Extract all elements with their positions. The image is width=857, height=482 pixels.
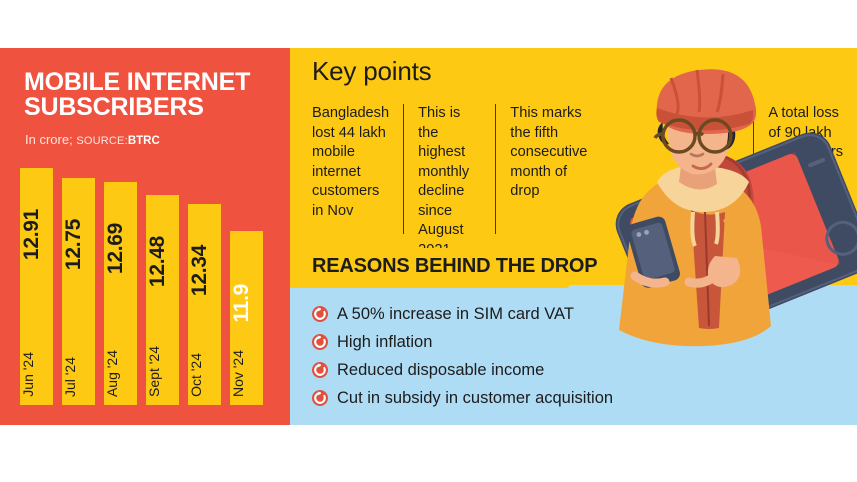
- reason-item: A 50% increase in SIM card VAT: [312, 300, 642, 328]
- chart-panel: MOBILE INTERNET SUBSCRIBERS In crore; SO…: [0, 48, 290, 425]
- bar: Sept '24: [146, 195, 179, 405]
- reason-text: A 50% increase in SIM card VAT: [337, 305, 574, 324]
- content-panel: Key points Bangladesh lost 44 lakh mobil…: [290, 48, 857, 425]
- bar: Jun '24: [20, 168, 53, 405]
- reason-item: Reduced disposable income: [312, 356, 642, 384]
- reason-text: Cut in subsidy in customer acquisition: [337, 389, 613, 408]
- reason-item: Cut in subsidy in customer acquisition: [312, 384, 642, 412]
- reason-item: High inflation: [312, 328, 642, 356]
- bar-chart: Jun '2412.91Jul '2412.75Aug '2412.69Sept…: [0, 48, 290, 425]
- bar: Aug '24: [104, 182, 137, 405]
- bar-category-label: Jun '24: [20, 352, 53, 397]
- key-point-item: Bangladesh lost 44 lakh mobile internet …: [312, 104, 403, 234]
- bar: Oct '24: [188, 204, 221, 405]
- key-point-item: A total loss of 90 lakh subscribers in J…: [753, 104, 857, 234]
- key-point-item: This marks the fifth consecutive month o…: [495, 104, 601, 234]
- bar-value-label: 12.75: [62, 219, 95, 270]
- key-points-row: Bangladesh lost 44 lakh mobile internet …: [312, 104, 857, 234]
- bar-group: Jul '2412.75: [62, 118, 95, 405]
- key-points-heading: Key points: [312, 56, 431, 87]
- bar-group: Oct '2412.34: [188, 144, 221, 405]
- key-point-item: This is the highest monthly decline sinc…: [403, 104, 495, 234]
- reason-text: High inflation: [337, 333, 432, 352]
- reasons-list: A 50% increase in SIM card VATHigh infla…: [312, 300, 642, 412]
- circular-arrow-icon: [312, 390, 328, 406]
- bar-group: Sept '2412.48: [146, 135, 179, 405]
- bar-category-label: Jul '24: [62, 357, 95, 397]
- circular-arrow-icon: [312, 306, 328, 322]
- bar-group: Nov '2411.9: [230, 171, 263, 405]
- bar-category-label: Sept '24: [146, 346, 179, 397]
- bar-value-label: 12.34: [188, 245, 221, 296]
- bar-category-label: Oct '24: [188, 353, 221, 397]
- circular-arrow-icon: [312, 362, 328, 378]
- bar-value-label: 12.69: [104, 223, 137, 274]
- bar-category-label: Aug '24: [104, 350, 137, 397]
- bar-group: Aug '2412.69: [104, 122, 137, 405]
- circular-arrow-icon: [312, 334, 328, 350]
- bar: Jul '24: [62, 178, 95, 405]
- bar-value-label: 12.91: [20, 209, 53, 260]
- reason-text: Reduced disposable income: [337, 361, 544, 380]
- reasons-heading: REASONS BEHIND THE DROP: [312, 255, 597, 278]
- bar-value-label: 12.48: [146, 236, 179, 287]
- bar-value-label: 11.9: [230, 284, 263, 323]
- infographic-canvas: MOBILE INTERNET SUBSCRIBERS In crore; SO…: [0, 0, 857, 482]
- bar-group: Jun '2412.91: [20, 108, 53, 405]
- bar-category-label: Nov '24: [230, 350, 263, 397]
